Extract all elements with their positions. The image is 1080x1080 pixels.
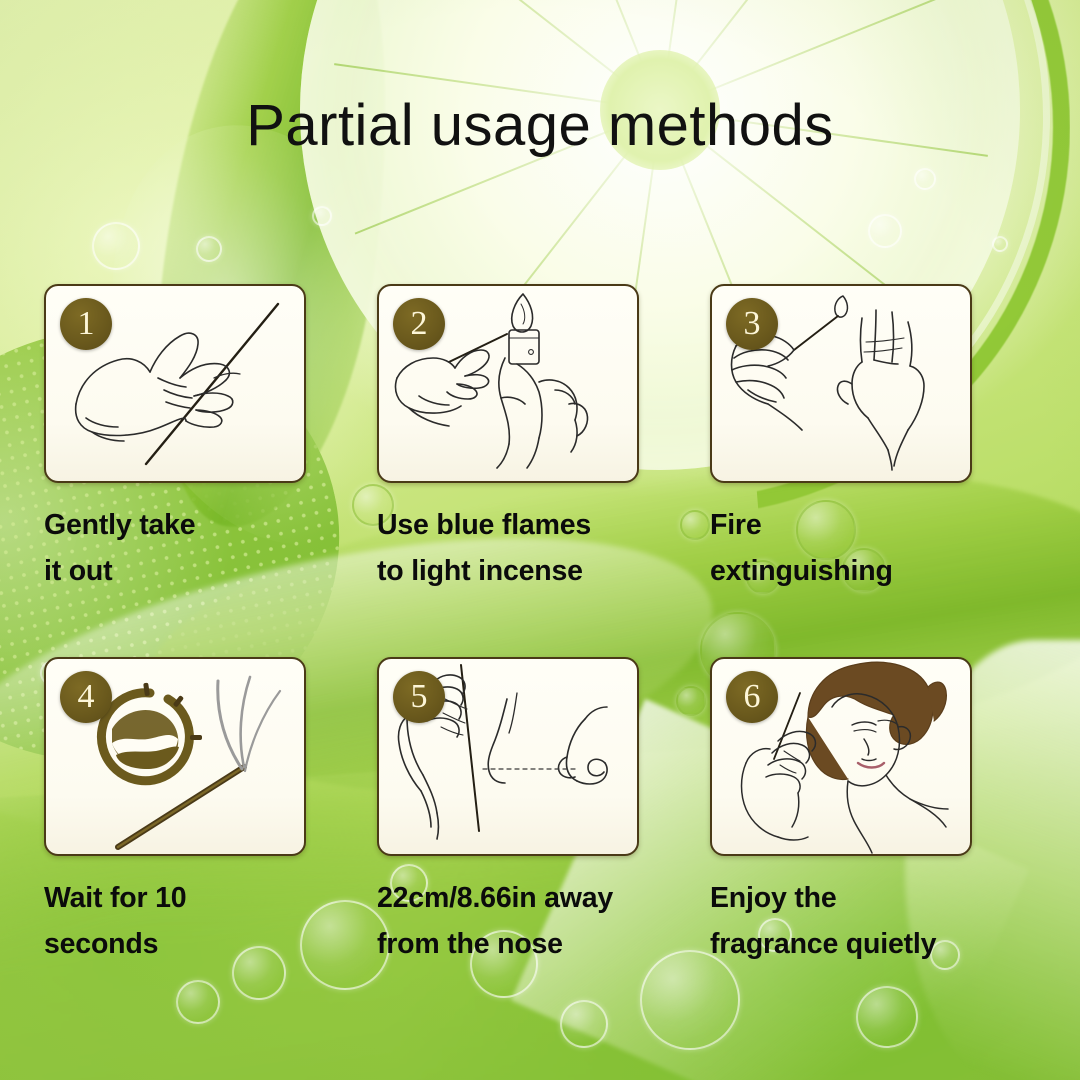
step-card-3: 3 bbox=[710, 284, 1043, 594]
step-5-number-badge: 5 bbox=[393, 671, 445, 723]
steps-row-1: 1 bbox=[44, 284, 1044, 594]
step-1-caption: Gently take it out bbox=[44, 502, 344, 594]
step-5-caption: 22cm/8.66in away from the nose bbox=[377, 875, 677, 967]
step-2-caption-line-2: to light incense bbox=[377, 548, 677, 594]
step-5-illustration-card: 5 bbox=[377, 657, 639, 856]
step-4-caption-line-1: Wait for 10 bbox=[44, 875, 344, 921]
page-title: Partial usage methods bbox=[0, 92, 1080, 159]
step-3-caption-line-1: Fire bbox=[710, 502, 1010, 548]
step-6-caption-line-1: Enjoy the bbox=[710, 875, 1010, 921]
step-4-number-badge: 4 bbox=[60, 671, 112, 723]
step-1-caption-line-2: it out bbox=[44, 548, 344, 594]
step-1-number-badge: 1 bbox=[60, 298, 112, 350]
steps-grid: 1 bbox=[44, 284, 1044, 968]
step-2-illustration-card: 2 bbox=[377, 284, 639, 483]
step-3-caption: Fire extinguishing bbox=[710, 502, 1010, 594]
step-5-caption-line-1: 22cm/8.66in away bbox=[377, 875, 677, 921]
step-card-5: 5 bbox=[377, 657, 710, 967]
step-card-4: 4 bbox=[44, 657, 377, 967]
step-2-number-badge: 2 bbox=[393, 298, 445, 350]
step-card-6: 6 bbox=[710, 657, 1043, 967]
infographic-page: Partial usage methods 1 bbox=[0, 0, 1080, 1080]
step-6-caption: Enjoy the fragrance quietly bbox=[710, 875, 1010, 967]
step-card-2: 2 bbox=[377, 284, 710, 594]
steps-row-2: 4 bbox=[44, 657, 1044, 967]
step-6-caption-line-2: fragrance quietly bbox=[710, 921, 1010, 967]
step-6-number-badge: 6 bbox=[726, 671, 778, 723]
step-3-caption-line-2: extinguishing bbox=[710, 548, 1010, 594]
step-3-illustration-card: 3 bbox=[710, 284, 972, 483]
step-6-illustration-card: 6 bbox=[710, 657, 972, 856]
step-4-caption-line-2: seconds bbox=[44, 921, 344, 967]
step-1-illustration-card: 1 bbox=[44, 284, 306, 483]
step-5-caption-line-2: from the nose bbox=[377, 921, 677, 967]
step-card-1: 1 bbox=[44, 284, 377, 594]
step-4-illustration-card: 4 bbox=[44, 657, 306, 856]
step-3-number-badge: 3 bbox=[726, 298, 778, 350]
step-1-caption-line-1: Gently take bbox=[44, 502, 344, 548]
step-4-caption: Wait for 10 seconds bbox=[44, 875, 344, 967]
step-2-caption-line-1: Use blue flames bbox=[377, 502, 677, 548]
step-2-caption: Use blue flames to light incense bbox=[377, 502, 677, 594]
